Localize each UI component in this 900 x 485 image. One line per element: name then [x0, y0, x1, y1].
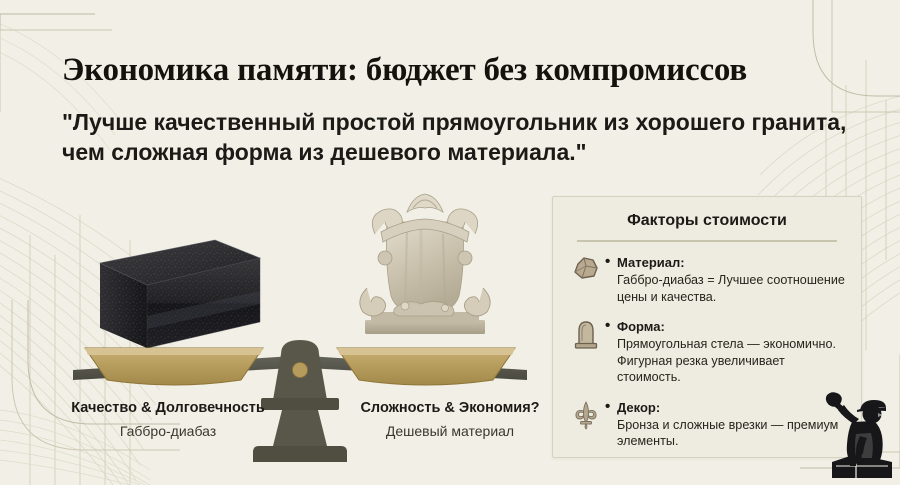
factor-item-material: Материал: Габбро-диабаз = Лучшее соотнош… — [569, 254, 845, 305]
pull-quote: "Лучше качественный простой прямоугольни… — [62, 107, 852, 167]
factor-body-material: Материал: Габбро-диабаз = Лучшее соотнош… — [603, 254, 845, 305]
left-pan-label-main: Качество & Долговечность — [53, 398, 283, 418]
factor-text-decor: Бронза и сложные врезки — премиум элемен… — [605, 417, 845, 450]
factor-body-decor: Декор: Бронза и сложные врезки — премиум… — [603, 399, 845, 450]
left-pan — [85, 348, 263, 385]
right-pan-label-main: Сложность & Экономия? — [335, 398, 565, 418]
right-pan-label-group: Сложность & Экономия? Дешевый материал — [335, 398, 565, 442]
right-pan — [337, 348, 515, 385]
right-pan-label-sub: Дешевый материал — [335, 420, 565, 442]
factor-heading-decor: Декор: — [605, 399, 845, 416]
factor-text-form: Прямоугольная стела — экономично. Фигурн… — [605, 336, 845, 386]
left-pan-label-sub: Габбро-диабаз — [53, 420, 283, 442]
granite-block — [100, 240, 260, 348]
factor-body-form: Форма: Прямоугольная стела — экономично.… — [603, 318, 845, 386]
factor-text-material: Габбро-диабаз = Лучшее соотношение цены … — [605, 272, 845, 305]
slide-header: Экономика памяти: бюджет без компромиссо… — [62, 50, 852, 167]
balance-scale-illustration — [55, 188, 545, 413]
page-title: Экономика памяти: бюджет без компромиссо… — [62, 50, 852, 90]
factor-heading-material: Материал: — [605, 254, 845, 271]
scale-labels: Качество & Долговечность Габбро-диабаз С… — [40, 398, 540, 456]
factor-item-decor: Декор: Бронза и сложные врезки — премиум… — [569, 399, 845, 450]
left-pan-label-group: Качество & Долговечность Габбро-диабаз — [53, 398, 283, 442]
ornate-monument — [360, 194, 490, 334]
panel-divider — [577, 240, 837, 242]
fleur-de-lis-icon — [569, 399, 603, 439]
slide-canvas: Экономика памяти: бюджет без компромиссо… — [0, 0, 900, 485]
rock-icon — [569, 254, 603, 294]
tombstone-icon — [569, 318, 603, 358]
factor-heading-form: Форма: — [605, 318, 845, 335]
stonemason-figure-icon — [816, 388, 898, 483]
panel-title: Факторы стоимости — [569, 211, 845, 231]
factor-item-form: Форма: Прямоугольная стела — экономично.… — [569, 318, 845, 386]
